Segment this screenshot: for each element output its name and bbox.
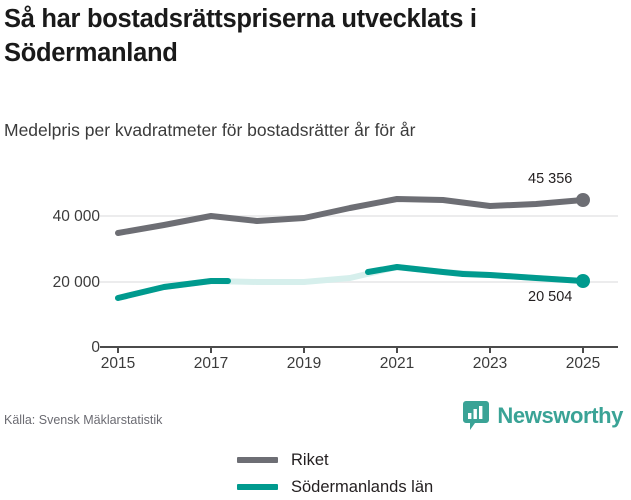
bar-chart-speech-bubble-icon (463, 401, 489, 431)
newsworthy-logo[interactable]: Newsworthy (463, 401, 623, 431)
data-label-sodermanland-2025: 20 504 (528, 289, 572, 305)
data-label-riket-2025: 45 356 (528, 171, 572, 187)
series-line-sodermanland-left (118, 281, 228, 298)
chart-legend: Riket Södermanlands län (237, 446, 433, 500)
legend-swatch-riket (237, 457, 278, 463)
x-tick-label-2015: 2015 (83, 355, 153, 373)
x-tick-label-2025: 2025 (548, 355, 618, 373)
legend-label-sodermanland: Södermanlands län (291, 479, 433, 495)
line-chart: 40 000 20 000 0 45 356 20 504 Riket Söde… (0, 165, 631, 385)
legend-swatch-sodermanland (237, 484, 278, 490)
legend-item-riket[interactable]: Riket (237, 446, 433, 473)
x-tick-label-2019: 2019 (269, 355, 339, 373)
x-tick-label-2017: 2017 (176, 355, 246, 373)
page-title: Så har bostadsrättspriserna utvecklats i… (4, 2, 628, 70)
chart-page: Så har bostadsrättspriserna utvecklats i… (0, 0, 631, 439)
newsworthy-logo-text: Newsworthy (497, 405, 623, 427)
source-note: Källa: Svensk Mäklarstatistik (4, 413, 162, 427)
x-tick-label-2021: 2021 (362, 355, 432, 373)
series-line-sodermanland-end (463, 274, 583, 281)
endpoint-marker-sodermanland (576, 274, 590, 288)
y-tick-label-40000: 40 000 (10, 208, 100, 226)
y-tick-label-20000: 20 000 (10, 274, 100, 292)
legend-label-riket: Riket (291, 452, 329, 468)
legend-item-sodermanland[interactable]: Södermanlands län (237, 473, 433, 500)
x-tick-label-2023: 2023 (455, 355, 525, 373)
chart-subtitle: Medelpris per kvadratmeter för bostadsrä… (4, 119, 628, 141)
endpoint-marker-riket (576, 193, 590, 207)
